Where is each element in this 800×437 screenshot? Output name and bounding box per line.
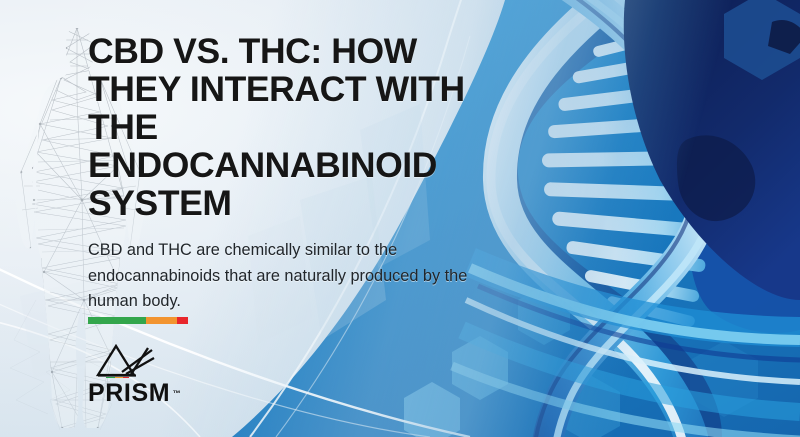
logo-spectrum-orange [115,377,123,378]
banner-root: CBD VS. THC: HOW THEY INTERACT WITH THE … [0,0,800,437]
page-title: CBD VS. THC: HOW THEY INTERACT WITH THE … [88,32,508,222]
page-subtitle: CBD and THC are chemically similar to th… [88,238,473,315]
accent-segment-orange [146,317,177,324]
text-column: CBD VS. THC: HOW THEY INTERACT WITH THE … [88,32,508,315]
logo-spectrum-red [123,377,129,378]
accent-rule [88,317,188,324]
trademark-symbol: ™ [173,381,182,407]
prism-triangle-icon [96,344,158,378]
accent-segment-green [88,317,146,324]
logo-wordmark-text: PRISM [88,379,170,407]
logo-wordmark: PRISM ™ [88,380,170,406]
accent-segment-red [177,317,188,324]
brand-logo[interactable]: PRISM ™ [88,344,218,406]
logo-spectrum-green [106,377,115,378]
